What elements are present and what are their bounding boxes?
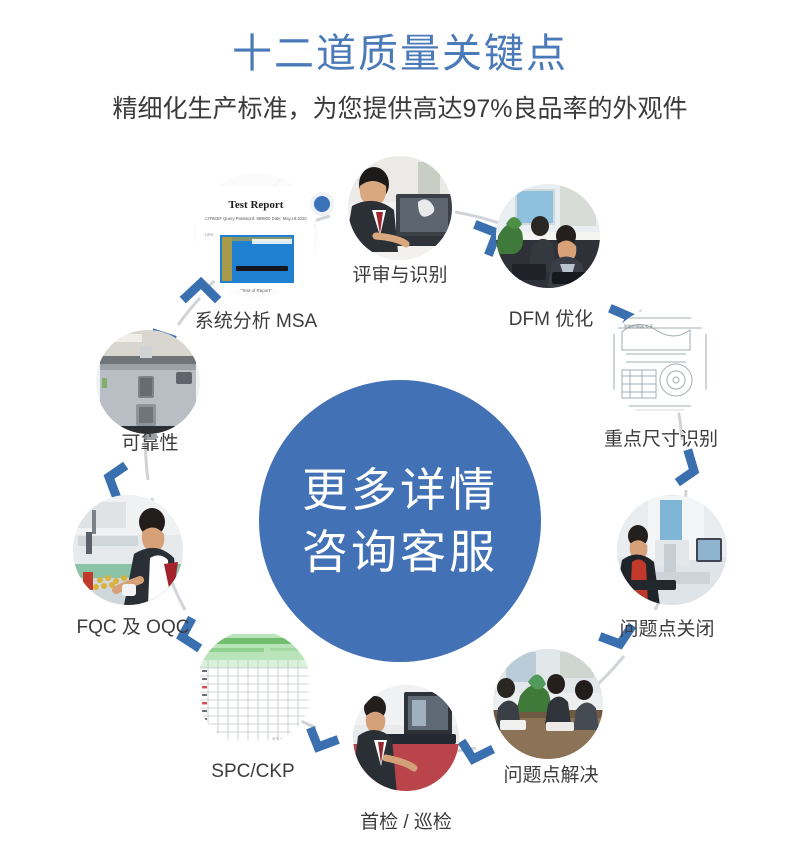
node-photo-dfm [496,184,600,290]
node-label-fqc-oqc: FQC 及 OQC [77,616,190,640]
node-photo-msa: Test Report LYRMSF Query Password: 88980… [180,150,350,320]
arrow-icon [464,745,489,759]
node-label-first-check: 首检 / 巡检 [360,811,452,835]
arrow-icon [479,226,497,251]
arrow-icon [681,454,694,480]
page-subtitle: 精细化生产标准，为您提供高达97%良品率的外观件 [0,92,800,126]
center-hub[interactable]: 更多详情 咨询客服 [259,380,541,662]
svg-text:SPC Control Chart: SPC Control Chart [272,737,302,741]
node-label-spc: SPC/CKP [211,760,294,784]
node-label-key-dimension: 重点尺寸识别 [604,428,718,452]
node-label-reliability: 可靠性 [121,432,178,456]
hub-line-1: 更多详情 [302,459,498,521]
node-label-review: 评审与识别 [352,264,447,288]
node-photo-spc: SPC Control Chart [196,630,312,746]
node-photo-solve [493,649,603,759]
node-label-dfm: DFM 优化 [509,308,593,332]
node-photo-drawing: 智能控制器 外壳 [606,308,714,416]
svg-text:LYRMSF Query Password: 889800: LYRMSF Query Password: 889800 Date: May.… [205,216,307,221]
svg-text:智能控制器 外壳: 智能控制器 外壳 [624,323,653,329]
node-label-issue-close: 问题点关闭 [619,618,714,642]
node-label-msa: 系统分析 MSA [195,310,317,334]
marker-dot-icon [310,192,334,216]
node-photo-firstcheck [351,685,459,794]
arrow-icon [312,732,334,747]
svg-text:UPD: UPD [205,232,214,237]
node-photo-fqc [73,495,183,605]
node-label-issue-solve: 问题点解决 [503,764,598,788]
cycle-diagram: Test Report LYRMSF Query Password: 88980… [0,140,800,860]
arrow-icon [109,468,122,493]
node-photo-reliability [96,330,200,434]
hub-line-2: 咨询客服 [302,521,498,583]
page-title: 十二道质量关键点 [0,30,800,78]
node-photo-close [614,495,727,606]
svg-text:"Test of Report": "Test of Report" [240,288,272,293]
node-photo-review [344,156,452,260]
svg-text:Test Report: Test Report [229,199,284,211]
infographic-page: 十二道质量关键点 精细化生产标准，为您提供高达97%良品率的外观件 [0,0,800,860]
